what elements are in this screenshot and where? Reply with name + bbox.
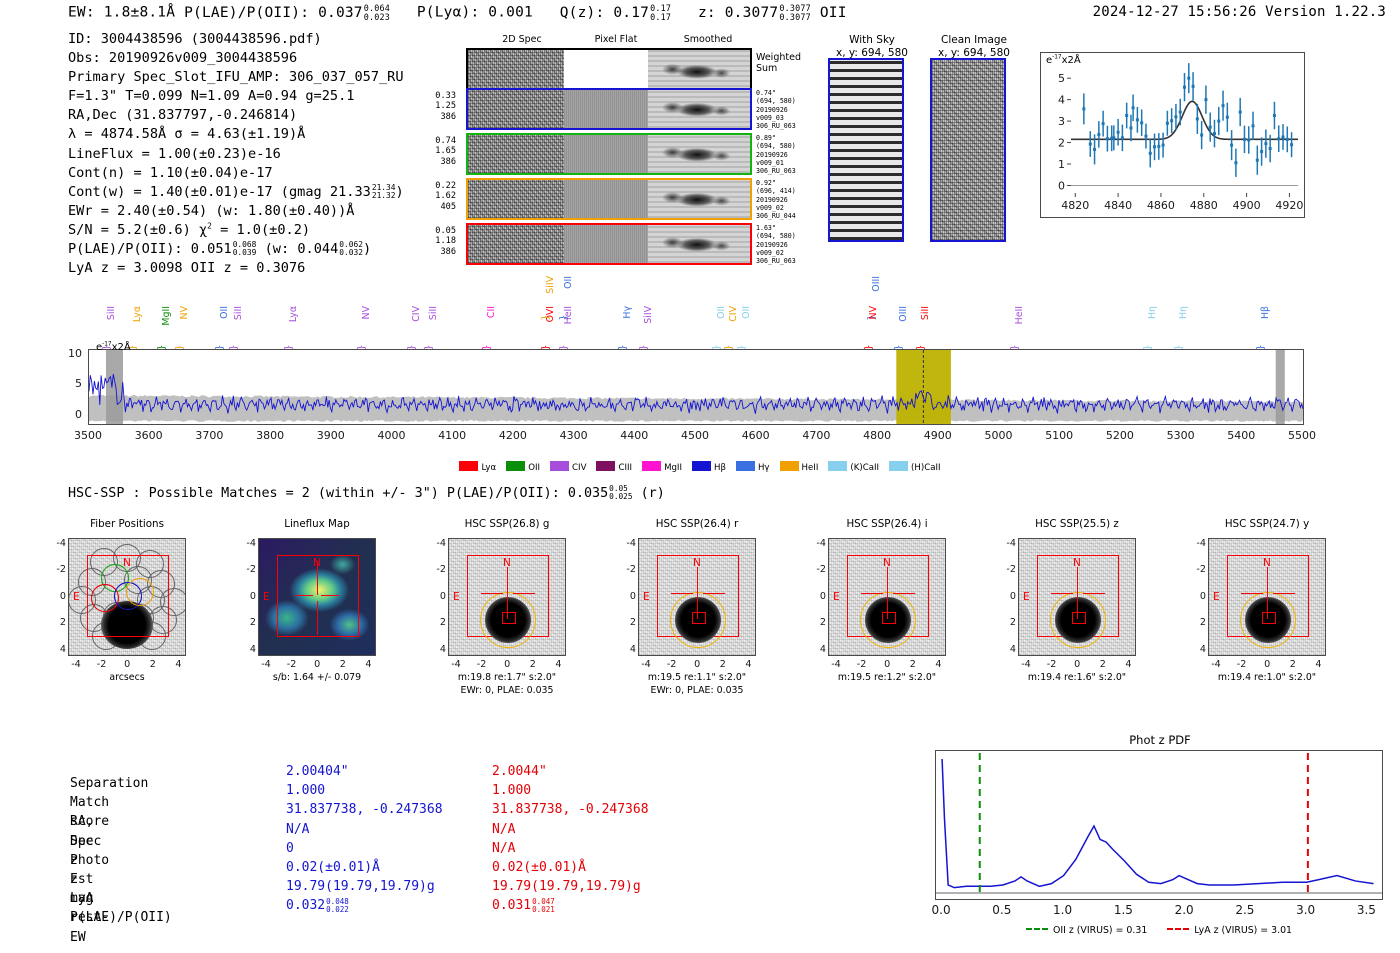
- crosshair-mark: [321, 595, 339, 596]
- spectrum-xtick: 4500: [671, 429, 719, 442]
- cutout-ytick: -4: [430, 538, 446, 549]
- weighted-pixelflat-image: [564, 50, 649, 92]
- cutout-ytick: -4: [1000, 538, 1016, 549]
- compass-east: E: [73, 591, 80, 603]
- legend-label: (H)CaII: [911, 463, 941, 473]
- crosshair-mark: [893, 593, 915, 594]
- cutout-image-2[interactable]: NE: [448, 538, 566, 656]
- crosshair-mark: [887, 567, 888, 619]
- match-row-value-blue: N/A: [286, 820, 309, 839]
- exposure-value: 386: [422, 157, 456, 167]
- clean-image: [930, 58, 1006, 242]
- match-row-value-blue: 2.00404": [286, 762, 349, 781]
- emission-line-brace: {: [557, 314, 568, 320]
- timestamp-version: 2024-12-27 15:56:26 Version 1.22.3: [1093, 4, 1386, 20]
- exposure-meta: 20190926: [756, 196, 818, 204]
- spec2d-exposure-row: [466, 178, 752, 220]
- exposure-meta: 20190926: [756, 151, 818, 159]
- svg-text:4900: 4900: [1233, 199, 1261, 212]
- legend-color-chip: [780, 461, 799, 471]
- cutout-ytick: 0: [620, 591, 636, 602]
- emission-line-label: OII: [563, 276, 574, 289]
- emission-line-label: SiII: [920, 306, 931, 320]
- cutout-ytick: 4: [50, 644, 66, 655]
- emission-line-label: OIII: [898, 306, 909, 322]
- cutout-xtick: 2: [713, 659, 733, 670]
- cutout-image-6[interactable]: NE: [1208, 538, 1326, 656]
- cutout-xtick: 2: [1283, 659, 1303, 670]
- cutout-ytick: -2: [810, 564, 826, 575]
- crosshair-mark: [317, 601, 318, 635]
- sky-title-text: Clean Image: [894, 34, 1054, 47]
- cutout-title: Lineflux Map: [232, 518, 402, 530]
- exposure-right-meta: 1.63"(694, 580)20190926v009_02306_RU_063: [756, 224, 818, 265]
- cutout-xtick: -4: [256, 659, 276, 670]
- spectrum-xtick: 3700: [185, 429, 233, 442]
- spectrum-xtick: 5200: [1096, 429, 1144, 442]
- match-marker-box: [882, 612, 896, 624]
- cutout-xtick: 2: [903, 659, 923, 670]
- line-fit-units: e-17x2Å: [1046, 55, 1081, 66]
- legend-color-chip: [596, 461, 615, 471]
- photz-xtick: 0.0: [921, 903, 961, 917]
- exposure-right-meta: 0.74"(694, 580)20190926v009_03306_RU_063: [756, 89, 818, 130]
- exposure-meta: 20190926: [756, 106, 818, 114]
- svg-text:1: 1: [1058, 158, 1065, 171]
- exposure-value: 0.05: [422, 226, 456, 236]
- cutout-subcaption-2: EWr: 0, PLAE: 0.035: [412, 685, 602, 697]
- cutout-xtick: -2: [282, 659, 302, 670]
- exposure-meta: v009_01: [756, 159, 818, 167]
- cutout-xtick: -4: [446, 659, 466, 670]
- exposure-meta: 0.74": [756, 89, 818, 97]
- photz-legend-label: OII z (VIRUS) = 0.31: [1053, 925, 1147, 936]
- cutout-ytick: 4: [620, 644, 636, 655]
- sky-panel-title: Clean Imagex, y: 694, 580: [894, 34, 1054, 59]
- legend-item: Hγ: [736, 463, 770, 473]
- spectrum-xtick: 4100: [428, 429, 476, 442]
- cutout-xtick: 4: [1118, 659, 1138, 670]
- spectrum-legend: LyαOIICIVCIIIMgIIHβHγHeII(K)CaII(H)CaII: [0, 461, 1400, 473]
- cutout-subcaption-1: m:19.4 re:1.0" s:2.0": [1172, 672, 1362, 684]
- spectrum-xtick: 3800: [246, 429, 294, 442]
- exposure-meta: (694, 580): [756, 142, 818, 150]
- exposure-meta: 0.89": [756, 134, 818, 142]
- exposure-value: 0.33: [422, 91, 456, 101]
- legend-item: CIV: [550, 463, 586, 473]
- cutout-ytick: 2: [1000, 617, 1016, 628]
- param-zline: LyA z = 3.0098 OII z = 0.3076: [68, 259, 404, 278]
- exposure-value: 0.22: [422, 181, 456, 191]
- crosshair-mark: [295, 595, 313, 596]
- legend-color-chip: [692, 461, 711, 471]
- legend-item: (K)CaII: [828, 463, 879, 473]
- cutout-xtick: 2: [1093, 659, 1113, 670]
- emission-line-label: Lyα: [132, 306, 143, 322]
- match-row-value-red: 0.0310.0470.021: [492, 896, 555, 915]
- exposure-value: 1.65: [422, 146, 456, 156]
- spectrum-ytick: 10: [62, 347, 82, 360]
- compass-north: N: [313, 557, 321, 569]
- crosshair-mark: [697, 567, 698, 619]
- emission-line-label: OII: [741, 306, 752, 319]
- cutout-ytick: -4: [240, 538, 256, 549]
- compass-east: E: [1213, 591, 1220, 603]
- exposure-meta: 0.92": [756, 179, 818, 187]
- exposure-pixelflat-image: [564, 180, 649, 218]
- cutout-subcaption-1: m:19.5 re:1.2" s:2.0": [792, 672, 982, 684]
- cutout-ytick: 4: [1190, 644, 1206, 655]
- spec2d-exposure-row: [466, 88, 752, 130]
- cutout-xtick: -2: [92, 659, 112, 670]
- cutout-ytick: 0: [1190, 591, 1206, 602]
- spectrum-xtick: 5400: [1217, 429, 1265, 442]
- cutout-xtick: 0: [687, 659, 707, 670]
- exposure-smoothed-image: [648, 90, 750, 128]
- spec2d-title-smoothed: Smoothed: [660, 34, 756, 45]
- weighted-2dspec-image: [468, 50, 564, 92]
- emission-line-label: OII: [219, 306, 230, 319]
- emission-line-label: NV: [361, 306, 372, 319]
- match-row-value-red: 0.02(±0.01)Å: [492, 858, 586, 877]
- match-row-value-red: 19.79(19.79,19.79)g: [492, 877, 641, 896]
- exposure-2dspec-image: [468, 180, 564, 218]
- photz-legend-dash: [1167, 928, 1189, 930]
- match-row-label: P(LAE)/P(OII): [70, 908, 172, 927]
- cutout-ytick: 4: [1000, 644, 1016, 655]
- match-row-label: Separation: [70, 774, 148, 793]
- cutout-xtick: -2: [472, 659, 492, 670]
- exposure-right-meta: 0.92"(696, 414)20190926v009_02306_RU_044: [756, 179, 818, 220]
- photz-legend-dash: [1026, 928, 1048, 930]
- photz-xtick: 0.5: [982, 903, 1022, 917]
- param-cont-w: Cont(w) = 1.40(±0.01)e-17 (gmag 21.3321.…: [68, 183, 404, 202]
- exposure-value: 1.18: [422, 236, 456, 246]
- header-plae: P(LAE)/P(OII): 0.0370.0640.023: [184, 5, 399, 21]
- match-marker-box: [1262, 612, 1276, 624]
- emission-line-label: CIV: [411, 306, 422, 322]
- crosshair-mark: [703, 593, 725, 594]
- cutout-ytick: 0: [50, 591, 66, 602]
- spectrum-xtick: 4400: [610, 429, 658, 442]
- exposure-meta: 306_RU_063: [756, 257, 818, 265]
- exposure-pixelflat-image: [564, 225, 649, 263]
- exposure-right-meta: 0.89"(694, 580)20190926v009_01306_RU_063: [756, 134, 818, 175]
- cutout-ytick: -2: [240, 564, 256, 575]
- spectrum-xtick: 4800: [853, 429, 901, 442]
- cutout-title: HSC SSP(24.7) y: [1182, 518, 1352, 530]
- spectrum-xtick: 3900: [307, 429, 355, 442]
- exposure-2dspec-image: [468, 135, 564, 173]
- emission-line-label: Hβ: [1260, 306, 1271, 319]
- cutout-xtick: 4: [1308, 659, 1328, 670]
- legend-label: (K)CaII: [850, 463, 879, 473]
- svg-text:4840: 4840: [1104, 199, 1132, 212]
- spectrum-xtick: 4300: [550, 429, 598, 442]
- emission-line-brace: {: [539, 314, 550, 320]
- legend-item: HeII: [780, 463, 819, 473]
- emission-line-label: Hγ: [622, 306, 633, 319]
- param-obs: Obs: 20190926v009_3004438596: [68, 49, 404, 68]
- emission-line-label: CIV: [728, 306, 739, 322]
- exposure-left-values: 0.741.65386: [422, 136, 456, 167]
- photz-legend: OII z (VIRUS) = 0.31LyA z (VIRUS) = 3.01: [935, 925, 1383, 936]
- crosshair-mark: [481, 593, 503, 594]
- legend-label: Hγ: [758, 463, 770, 473]
- exposure-meta: (694, 580): [756, 97, 818, 105]
- exposure-value: 405: [422, 202, 456, 212]
- match-marker-box: [502, 612, 516, 624]
- match-row-value-red: N/A: [492, 839, 515, 858]
- compass-north: N: [1263, 557, 1271, 569]
- full-spectrum-units: e-17x2Å: [96, 342, 131, 353]
- spectrum-xtick: 3600: [125, 429, 173, 442]
- match-row-value-blue: 0.02(±0.01)Å: [286, 858, 380, 877]
- photz-xtick: 2.0: [1164, 903, 1204, 917]
- exposure-value: 386: [422, 112, 456, 122]
- photz-legend-item: LyA z (VIRUS) = 3.01: [1167, 925, 1292, 936]
- spectrum-xtick: 4600: [732, 429, 780, 442]
- match-row-value-blue: 19.79(19.79,19.79)g: [286, 877, 435, 896]
- compass-east: E: [1023, 591, 1030, 603]
- photz-legend-label: LyA z (VIRUS) = 3.01: [1194, 925, 1292, 936]
- svg-text:4920: 4920: [1275, 199, 1303, 212]
- cutout-ytick: -4: [50, 538, 66, 549]
- photz-xtick: 1.0: [1043, 903, 1083, 917]
- exposure-pixelflat-image: [564, 90, 649, 128]
- header-summary: EW: 1.8±8.1Å P(LAE)/P(OII): 0.0370.0640.…: [68, 4, 847, 21]
- exposure-meta: (694, 580): [756, 232, 818, 240]
- match-marker-box: [1072, 612, 1086, 624]
- photz-xtick: 3.0: [1286, 903, 1326, 917]
- emission-line-label: OIII: [871, 276, 882, 292]
- cutout-xtick: 4: [168, 659, 188, 670]
- legend-label: Hβ: [714, 463, 726, 473]
- crosshair-mark: [1051, 593, 1073, 594]
- cutout-subcaption-1: m:19.5 re:1.1" s:2.0": [602, 672, 792, 684]
- emission-line-label: OII: [716, 306, 727, 319]
- cutout-ytick: -4: [810, 538, 826, 549]
- cutout-xtick: 0: [877, 659, 897, 670]
- photz-xtick: 3.5: [1346, 903, 1386, 917]
- cutout-xtick: 0: [307, 659, 327, 670]
- cutout-image-1[interactable]: NE: [258, 538, 376, 656]
- exposure-meta: v009_02: [756, 249, 818, 257]
- compass-east: E: [453, 591, 460, 603]
- cutout-ytick: -4: [620, 538, 636, 549]
- cutout-xtick: 2: [523, 659, 543, 670]
- cutout-ytick: 0: [810, 591, 826, 602]
- spectrum-xtick: 4900: [914, 429, 962, 442]
- cutout-ytick: 0: [1000, 591, 1016, 602]
- cutout-ytick: 4: [430, 644, 446, 655]
- exposure-value: 1.62: [422, 191, 456, 201]
- crosshair-mark: [1241, 593, 1263, 594]
- emission-line-label: CII: [486, 306, 497, 318]
- cutout-subcaption-2: EWr: 0, PLAE: 0.035: [602, 685, 792, 697]
- exposure-meta: 306_RU_044: [756, 212, 818, 220]
- crosshair-mark: [1267, 567, 1268, 619]
- cutout-image-3[interactable]: NE: [638, 538, 756, 656]
- cutout-xtick: 2: [143, 659, 163, 670]
- match-row-value-red: 31.837738, -0.247368: [492, 800, 649, 819]
- param-radec: RA,Dec (31.837797,-0.246814): [68, 106, 404, 125]
- svg-text:5: 5: [1058, 72, 1065, 85]
- photz-title: Phot z PDF: [935, 733, 1385, 747]
- photz-xtick: 2.5: [1225, 903, 1265, 917]
- cutout-title: HSC SSP(26.4) i: [802, 518, 972, 530]
- legend-color-chip: [459, 461, 478, 471]
- spectrum-xtick: 4200: [489, 429, 537, 442]
- param-seeing: F=1.3" T=0.099 N=1.09 A=0.94 g=25.1: [68, 87, 404, 106]
- param-lineflux: LineFlux = 1.00(±0.23)e-16: [68, 145, 404, 164]
- spec2d-exposure-row: [466, 133, 752, 175]
- svg-text:0: 0: [1058, 179, 1065, 192]
- exposure-meta: (696, 414): [756, 187, 818, 195]
- compass-east: E: [263, 591, 270, 603]
- exposure-smoothed-image: [648, 135, 750, 173]
- cutout-ytick: 0: [430, 591, 446, 602]
- match-row-value-red: N/A: [492, 820, 515, 839]
- emission-line-label: HeII: [1014, 306, 1025, 324]
- cutout-xtick: -2: [852, 659, 872, 670]
- cutout-xtick: -4: [66, 659, 86, 670]
- match-row-value-blue: 1.000: [286, 781, 325, 800]
- legend-item: Lyα: [459, 463, 496, 473]
- emission-line-label: SiII: [106, 306, 117, 320]
- with-sky-image: [828, 58, 904, 242]
- param-cont-n: Cont(n) = 1.10(±0.04)e-17: [68, 164, 404, 183]
- exposure-meta: 306_RU_063: [756, 167, 818, 175]
- cutout-ytick: 4: [240, 644, 256, 655]
- weighted-smoothed-image: [648, 50, 750, 92]
- exposure-pixelflat-image: [564, 135, 649, 173]
- param-sn: S/N = 5.2(±0.6) χ2 = 1.0(±0.2): [68, 221, 404, 240]
- svg-text:4880: 4880: [1190, 199, 1218, 212]
- header-z: z: 0.30770.30770.3077 OII: [698, 5, 847, 21]
- exposure-left-values: 0.221.62405: [422, 181, 456, 212]
- match-row-value-red: 1.000: [492, 781, 531, 800]
- cutout-xtick: 4: [358, 659, 378, 670]
- match-row-label: mag: [70, 889, 93, 908]
- cutout-ytick: 2: [430, 617, 446, 628]
- cutout-xtick: 4: [738, 659, 758, 670]
- cutout-image-5[interactable]: NE: [1018, 538, 1136, 656]
- cutout-xtick: 0: [1257, 659, 1277, 670]
- compass-north: N: [883, 557, 891, 569]
- emission-line-label: Hη: [1147, 306, 1158, 319]
- legend-label: CIV: [572, 463, 586, 473]
- header-qz: Q(z): 0.170.170.17: [560, 5, 680, 21]
- cutout-xtick: 4: [928, 659, 948, 670]
- emission-line-label: MgII: [161, 306, 172, 326]
- spectrum-xtick: 3500: [64, 429, 112, 442]
- cutout-ytick: 2: [620, 617, 636, 628]
- compass-east: E: [833, 591, 840, 603]
- spec2d-title-pixelflat: Pixel Flat: [568, 34, 664, 45]
- match-row-value-blue: 0.0320.0480.022: [286, 896, 349, 915]
- exposure-left-values: 0.051.18386: [422, 226, 456, 257]
- exposure-meta: 1.63": [756, 224, 818, 232]
- crosshair-mark: [671, 593, 693, 594]
- legend-color-chip: [642, 461, 661, 471]
- emission-line-label: NV: [868, 306, 879, 319]
- cutout-xtick: -4: [826, 659, 846, 670]
- match-marker-box: [692, 612, 706, 624]
- cutout-ytick: 0: [240, 591, 256, 602]
- exposure-meta: 306_RU_063: [756, 122, 818, 130]
- cutout-xtick: 4: [548, 659, 568, 670]
- crosshair-mark: [861, 593, 883, 594]
- cutout-ytick: -2: [620, 564, 636, 575]
- exposure-meta: v009_02: [756, 204, 818, 212]
- legend-item: CIII: [596, 463, 632, 473]
- exposure-meta: 20190926: [756, 241, 818, 249]
- emission-line-label: SiIV: [545, 276, 556, 294]
- param-lambda: λ = 4874.58Å σ = 4.63(±1.19)Å: [68, 125, 404, 144]
- cutout-xtick: -4: [1016, 659, 1036, 670]
- legend-color-chip: [550, 461, 569, 471]
- crosshair-mark: [1273, 593, 1295, 594]
- legend-color-chip: [889, 461, 908, 471]
- crosshair-mark: [507, 567, 508, 619]
- param-id: ID: 3004438596 (3004438596.pdf): [68, 30, 404, 49]
- emission-line-label: SiII: [428, 306, 439, 320]
- param-ewr: EWr = 2.40(±0.54) (w: 1.80(±0.40))Å: [68, 202, 404, 221]
- cutout-ytick: 2: [240, 617, 256, 628]
- hsc-header: HSC-SSP : Possible Matches = 2 (within +…: [68, 485, 665, 501]
- legend-item: Hβ: [692, 463, 726, 473]
- cutout-ytick: 2: [1190, 617, 1206, 628]
- exposure-2dspec-image: [468, 225, 564, 263]
- crosshair-mark: [513, 593, 535, 594]
- svg-text:4: 4: [1058, 94, 1065, 107]
- header-plya: P(Lyα): 0.001: [417, 5, 533, 21]
- cutout-ytick: -2: [50, 564, 66, 575]
- cutout-xtick: 2: [333, 659, 353, 670]
- emission-line-label: SiII: [233, 306, 244, 320]
- compass-north: N: [123, 557, 131, 569]
- cutout-subcaption-1: m:19.4 re:1.6" s:2.0": [982, 672, 1172, 684]
- cutout-ytick: -2: [430, 564, 446, 575]
- cutout-image-4[interactable]: NE: [828, 538, 946, 656]
- full-spectrum-plot: [88, 349, 1304, 425]
- header-ew: EW: 1.8±8.1Å: [68, 5, 175, 21]
- legend-label: HeII: [802, 463, 819, 473]
- photz-xtick: 1.5: [1103, 903, 1143, 917]
- cutout-xtick: -2: [1232, 659, 1252, 670]
- match-row-value-red: 2.0044": [492, 762, 547, 781]
- param-slot: Primary Spec_Slot_IFU_AMP: 306_037_057_R…: [68, 68, 404, 87]
- spectrum-xtick: 4700: [792, 429, 840, 442]
- cutout-ytick: -2: [1190, 564, 1206, 575]
- legend-label: CIII: [618, 463, 632, 473]
- legend-label: OII: [528, 463, 540, 473]
- photz-legend-item: OII z (VIRUS) = 0.31: [1026, 925, 1147, 936]
- exposure-smoothed-image: [648, 225, 750, 263]
- cutout-subcaption-1: m:19.8 re:1.7" s:2.0": [412, 672, 602, 684]
- spectrum-ytick: 0: [62, 408, 82, 421]
- spec2d-exposure-row: [466, 223, 752, 265]
- cutout-ytick: -4: [1190, 538, 1206, 549]
- cutout-image-0[interactable]: NE: [68, 538, 186, 656]
- legend-color-chip: [828, 461, 847, 471]
- cutout-title: HSC SSP(26.4) r: [612, 518, 782, 530]
- emission-line-label: NV: [179, 306, 190, 319]
- exposure-value: 1.25: [422, 101, 456, 111]
- legend-label: Lyα: [481, 463, 496, 473]
- cutout-xtick: -2: [662, 659, 682, 670]
